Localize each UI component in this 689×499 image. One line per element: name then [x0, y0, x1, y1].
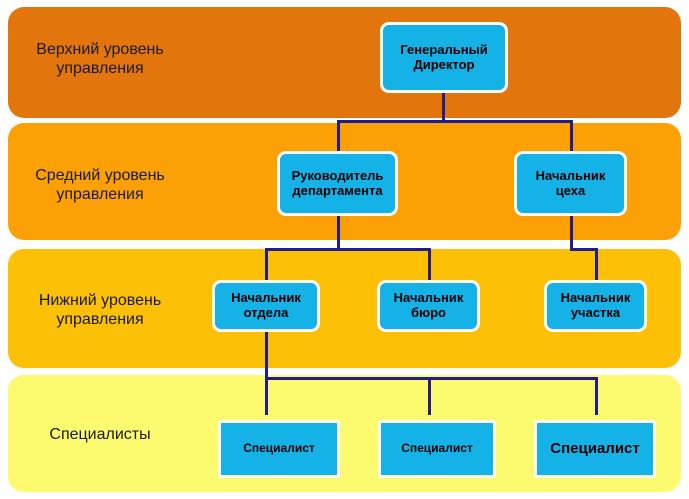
connector-ceo-drop — [442, 91, 445, 123]
node-dept-head[interactable]: Руководитель департамента — [277, 151, 398, 216]
connector-dept-head-drop — [337, 215, 340, 251]
org-chart-diagram: Верхний уровень управления Средний урове… — [0, 0, 689, 499]
node-specialist-3[interactable]: Специалист — [534, 420, 656, 478]
connector-otdel-to-specialist-2 — [428, 377, 431, 415]
connector-dept-head-to-buro — [428, 248, 431, 282]
node-specialist-1[interactable]: Специалист — [218, 420, 340, 478]
level-label-top: Верхний уровень управления — [0, 40, 200, 78]
connector-dept-head-bus — [265, 248, 431, 251]
connector-dept-head-to-otdel — [265, 248, 268, 282]
connector-ceo-to-dept-head — [337, 120, 340, 152]
node-buro-head[interactable]: Начальник бюро — [377, 280, 480, 332]
connector-ceo-bus — [337, 120, 573, 123]
node-specialist-2[interactable]: Специалист — [378, 420, 496, 478]
connector-shop-head-drop — [570, 215, 573, 251]
connector-shop-head-jog — [570, 248, 598, 251]
connector-shop-head-to-uchastok — [595, 248, 598, 282]
connector-otdel-to-specialist-3 — [595, 377, 598, 415]
connector-otdel-head-drop — [265, 331, 268, 378]
connector-otdel-to-specialist-1 — [265, 377, 268, 415]
level-label-specialists: Специалисты — [0, 425, 200, 444]
node-shop-head[interactable]: Начальник цеха — [514, 151, 627, 216]
node-otdel-head[interactable]: Начальник отдела — [212, 280, 320, 332]
connector-ceo-to-shop-head — [570, 120, 573, 152]
level-label-middle: Средний уровень управления — [0, 166, 200, 204]
connector-specialists-bus — [265, 377, 598, 380]
level-label-lower: Нижний уровень управления — [0, 291, 200, 329]
node-uchastok-head[interactable]: Начальник участка — [544, 280, 647, 332]
node-ceo[interactable]: Генеральный Директор — [380, 22, 508, 93]
